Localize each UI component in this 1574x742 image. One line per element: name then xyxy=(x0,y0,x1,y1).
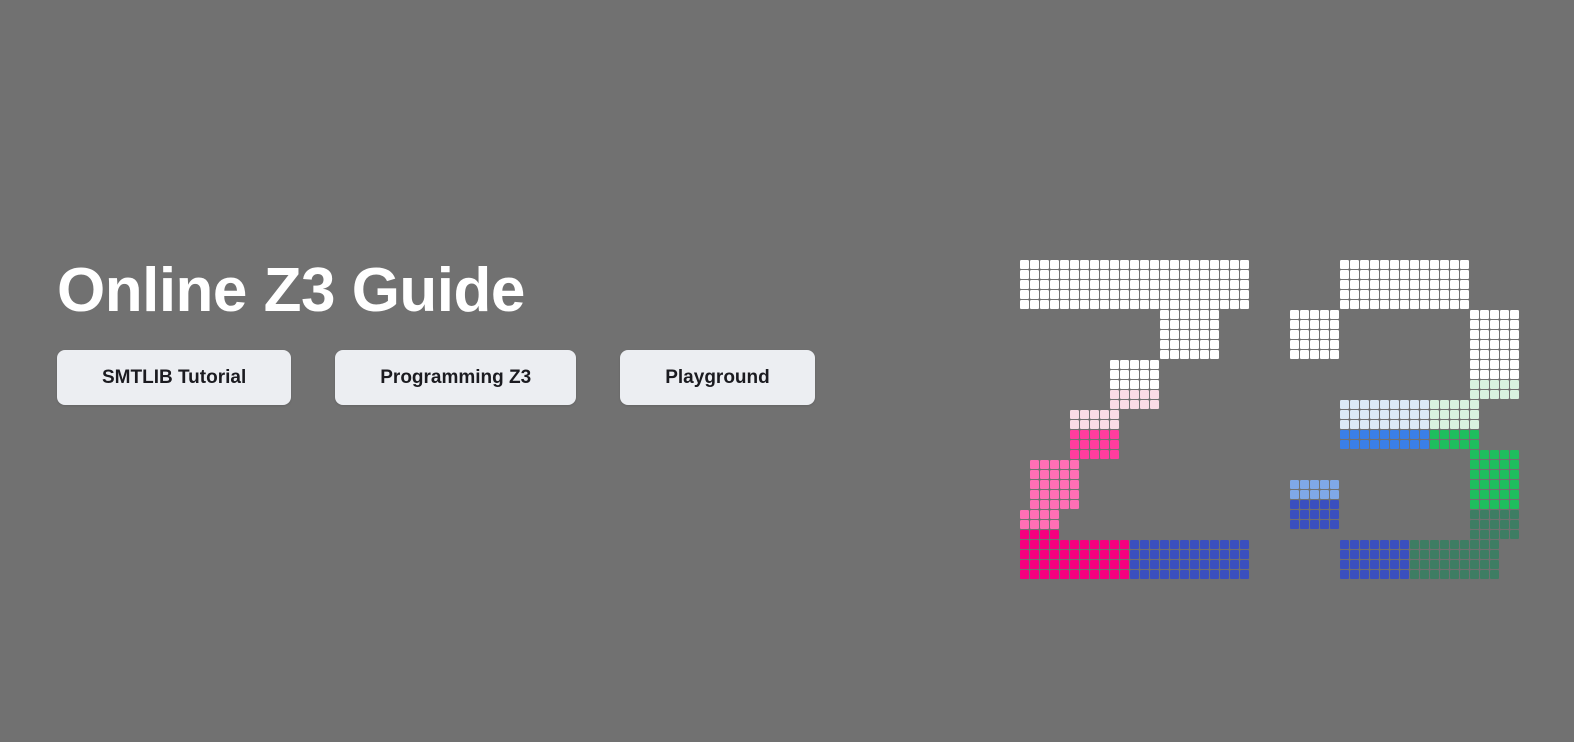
logo-pixel xyxy=(1360,290,1369,299)
logo-pixel xyxy=(1080,290,1089,299)
logo-pixel xyxy=(1410,290,1419,299)
logo-pixel xyxy=(1390,300,1399,309)
logo-pixel xyxy=(1340,260,1349,269)
logo-pixel xyxy=(1160,560,1169,569)
logo-pixel xyxy=(1240,550,1249,559)
logo-pixel xyxy=(1090,440,1099,449)
logo-pixel xyxy=(1110,440,1119,449)
logo-pixel xyxy=(1490,310,1499,319)
logo-pixel xyxy=(1120,570,1129,579)
logo-pixel xyxy=(1130,270,1139,279)
logo-pixel xyxy=(1040,280,1049,289)
logo-pixel xyxy=(1070,490,1079,499)
logo-pixel xyxy=(1340,410,1349,419)
logo-pixel xyxy=(1150,540,1159,549)
logo-pixel xyxy=(1210,350,1219,359)
logo-pixel xyxy=(1070,290,1079,299)
logo-pixel xyxy=(1350,560,1359,569)
logo-pixel xyxy=(1080,420,1089,429)
logo-pixel xyxy=(1040,510,1049,519)
logo-pixel xyxy=(1090,430,1099,439)
logo-pixel xyxy=(1300,330,1309,339)
logo-pixel xyxy=(1190,300,1199,309)
logo-pixel xyxy=(1470,530,1479,539)
logo-pixel xyxy=(1080,270,1089,279)
logo-pixel xyxy=(1310,310,1319,319)
logo-pixel xyxy=(1070,560,1079,569)
logo-pixel xyxy=(1220,280,1229,289)
logo-pixel xyxy=(1180,300,1189,309)
logo-pixel xyxy=(1410,260,1419,269)
logo-pixel xyxy=(1040,570,1049,579)
programming-z3-button[interactable]: Programming Z3 xyxy=(335,350,576,405)
logo-pixel xyxy=(1470,460,1479,469)
logo-pixel xyxy=(1040,540,1049,549)
logo-pixel xyxy=(1470,470,1479,479)
logo-pixel xyxy=(1320,350,1329,359)
logo-pixel xyxy=(1200,550,1209,559)
logo-pixel xyxy=(1170,300,1179,309)
logo-pixel xyxy=(1390,550,1399,559)
logo-pixel xyxy=(1440,550,1449,559)
logo-pixel xyxy=(1400,560,1409,569)
logo-pixel xyxy=(1050,280,1059,289)
logo-pixel xyxy=(1100,540,1109,549)
logo-pixel xyxy=(1320,310,1329,319)
logo-pixel xyxy=(1230,550,1239,559)
logo-pixel xyxy=(1080,540,1089,549)
logo-pixel xyxy=(1160,540,1169,549)
logo-pixel xyxy=(1430,550,1439,559)
logo-pixel xyxy=(1510,370,1519,379)
logo-pixel xyxy=(1220,570,1229,579)
logo-pixel xyxy=(1360,550,1369,559)
logo-pixel xyxy=(1470,320,1479,329)
logo-pixel xyxy=(1070,500,1079,509)
logo-pixel xyxy=(1440,290,1449,299)
logo-pixel xyxy=(1120,550,1129,559)
logo-pixel xyxy=(1170,540,1179,549)
logo-pixel xyxy=(1180,270,1189,279)
logo-pixel xyxy=(1220,540,1229,549)
logo-pixel xyxy=(1460,430,1469,439)
logo-pixel xyxy=(1470,450,1479,459)
logo-pixel xyxy=(1070,420,1079,429)
logo-pixel xyxy=(1220,300,1229,309)
logo-pixel xyxy=(1380,270,1389,279)
logo-pixel xyxy=(1480,570,1489,579)
logo-pixel xyxy=(1370,300,1379,309)
logo-pixel xyxy=(1490,460,1499,469)
logo-pixel xyxy=(1340,540,1349,549)
logo-pixel xyxy=(1060,280,1069,289)
logo-pixel xyxy=(1170,270,1179,279)
logo-pixel xyxy=(1090,410,1099,419)
logo-pixel xyxy=(1400,570,1409,579)
logo-pixel xyxy=(1420,400,1429,409)
logo-pixel xyxy=(1080,560,1089,569)
playground-button[interactable]: Playground xyxy=(620,350,815,405)
logo-pixel xyxy=(1340,290,1349,299)
logo-pixel xyxy=(1370,410,1379,419)
logo-pixel xyxy=(1470,310,1479,319)
logo-pixel xyxy=(1190,350,1199,359)
logo-pixel xyxy=(1190,560,1199,569)
logo-pixel xyxy=(1300,510,1309,519)
logo-pixel xyxy=(1310,510,1319,519)
logo-pixel xyxy=(1160,270,1169,279)
logo-pixel xyxy=(1320,510,1329,519)
logo-pixel xyxy=(1110,420,1119,429)
logo-pixel xyxy=(1300,340,1309,349)
logo-pixel xyxy=(1210,280,1219,289)
logo-pixel xyxy=(1090,260,1099,269)
logo-pixel xyxy=(1100,550,1109,559)
logo-pixel xyxy=(1300,490,1309,499)
logo-pixel xyxy=(1200,350,1209,359)
logo-pixel xyxy=(1020,300,1029,309)
logo-pixel xyxy=(1140,540,1149,549)
logo-pixel xyxy=(1070,540,1079,549)
logo-pixel xyxy=(1440,570,1449,579)
logo-pixel xyxy=(1240,270,1249,279)
logo-pixel xyxy=(1480,480,1489,489)
logo-pixel xyxy=(1080,550,1089,559)
logo-pixel xyxy=(1370,570,1379,579)
logo-pixel xyxy=(1170,550,1179,559)
logo-pixel xyxy=(1090,420,1099,429)
logo-pixel xyxy=(1020,510,1029,519)
logo-pixel xyxy=(1120,290,1129,299)
logo-pixel xyxy=(1220,560,1229,569)
logo-pixel xyxy=(1510,490,1519,499)
logo-pixel xyxy=(1440,430,1449,439)
logo-pixel xyxy=(1480,530,1489,539)
logo-pixel xyxy=(1500,530,1509,539)
logo-pixel xyxy=(1350,280,1359,289)
logo-pixel xyxy=(1200,270,1209,279)
logo-pixel xyxy=(1030,460,1039,469)
logo-pixel xyxy=(1460,540,1469,549)
logo-pixel xyxy=(1410,440,1419,449)
logo-pixel xyxy=(1430,280,1439,289)
logo-pixel xyxy=(1350,400,1359,409)
logo-pixel xyxy=(1210,270,1219,279)
logo-pixel xyxy=(1030,270,1039,279)
logo-pixel xyxy=(1440,540,1449,549)
logo-pixel xyxy=(1230,280,1239,289)
logo-pixel xyxy=(1210,550,1219,559)
logo-pixel xyxy=(1500,470,1509,479)
logo-pixel xyxy=(1200,280,1209,289)
logo-pixel xyxy=(1470,570,1479,579)
logo-pixel xyxy=(1180,310,1189,319)
logo-pixel xyxy=(1440,420,1449,429)
logo-pixel xyxy=(1120,280,1129,289)
logo-pixel xyxy=(1180,280,1189,289)
logo-pixel xyxy=(1410,570,1419,579)
logo-pixel xyxy=(1500,500,1509,509)
logo-pixel xyxy=(1110,450,1119,459)
logo-pixel xyxy=(1140,260,1149,269)
logo-pixel xyxy=(1320,490,1329,499)
logo-pixel xyxy=(1230,260,1239,269)
logo-pixel xyxy=(1040,480,1049,489)
logo-pixel xyxy=(1310,340,1319,349)
logo-pixel xyxy=(1380,540,1389,549)
logo-pixel xyxy=(1030,550,1039,559)
logo-pixel xyxy=(1220,550,1229,559)
logo-pixel xyxy=(1230,560,1239,569)
logo-pixel xyxy=(1150,270,1159,279)
logo-pixel xyxy=(1150,300,1159,309)
logo-pixel xyxy=(1140,390,1149,399)
logo-pixel xyxy=(1410,400,1419,409)
logo-pixel xyxy=(1330,480,1339,489)
logo-pixel xyxy=(1400,440,1409,449)
logo-pixel xyxy=(1040,270,1049,279)
logo-pixel xyxy=(1180,560,1189,569)
logo-pixel xyxy=(1290,520,1299,529)
logo-pixel xyxy=(1070,570,1079,579)
logo-pixel xyxy=(1180,540,1189,549)
logo-pixel xyxy=(1340,430,1349,439)
logo-pixel xyxy=(1160,350,1169,359)
logo-pixel xyxy=(1140,280,1149,289)
logo-pixel xyxy=(1370,280,1379,289)
logo-pixel xyxy=(1090,560,1099,569)
logo-pixel xyxy=(1430,540,1439,549)
logo-pixel xyxy=(1450,550,1459,559)
logo-pixel xyxy=(1330,330,1339,339)
logo-pixel xyxy=(1070,460,1079,469)
logo-pixel xyxy=(1090,550,1099,559)
logo-pixel xyxy=(1100,410,1109,419)
logo-pixel xyxy=(1210,310,1219,319)
logo-pixel xyxy=(1410,430,1419,439)
logo-pixel xyxy=(1380,410,1389,419)
logo-pixel xyxy=(1400,260,1409,269)
logo-pixel xyxy=(1390,410,1399,419)
logo-pixel xyxy=(1480,510,1489,519)
logo-pixel xyxy=(1510,470,1519,479)
logo-pixel xyxy=(1350,260,1359,269)
logo-pixel xyxy=(1300,310,1309,319)
logo-pixel xyxy=(1030,280,1039,289)
logo-pixel xyxy=(1340,440,1349,449)
logo-pixel xyxy=(1500,320,1509,329)
logo-pixel xyxy=(1120,390,1129,399)
logo-pixel xyxy=(1350,270,1359,279)
logo-pixel xyxy=(1020,260,1029,269)
logo-pixel xyxy=(1210,260,1219,269)
logo-pixel xyxy=(1400,290,1409,299)
logo-pixel xyxy=(1110,300,1119,309)
logo-pixel xyxy=(1440,560,1449,569)
logo-pixel xyxy=(1170,320,1179,329)
logo-pixel xyxy=(1150,290,1159,299)
logo-pixel xyxy=(1060,460,1069,469)
logo-pixel xyxy=(1500,310,1509,319)
logo-pixel xyxy=(1210,340,1219,349)
logo-pixel xyxy=(1240,540,1249,549)
logo-pixel xyxy=(1160,570,1169,579)
logo-pixel xyxy=(1230,290,1239,299)
logo-pixel xyxy=(1410,410,1419,419)
logo-pixel xyxy=(1310,520,1319,529)
logo-pixel xyxy=(1200,560,1209,569)
logo-pixel xyxy=(1490,370,1499,379)
logo-pixel xyxy=(1140,570,1149,579)
logo-pixel xyxy=(1370,420,1379,429)
logo-pixel xyxy=(1430,430,1439,439)
logo-pixel xyxy=(1110,560,1119,569)
logo-pixel xyxy=(1380,400,1389,409)
logo-pixel xyxy=(1070,480,1079,489)
logo-pixel xyxy=(1420,280,1429,289)
logo-pixel xyxy=(1500,370,1509,379)
logo-pixel xyxy=(1510,450,1519,459)
hero-section: Online Z3 Guide SMTLIB Tutorial Programm… xyxy=(57,258,957,405)
logo-pixel xyxy=(1350,570,1359,579)
logo-pixel xyxy=(1360,280,1369,289)
logo-pixel xyxy=(1360,300,1369,309)
logo-pixel xyxy=(1240,570,1249,579)
logo-pixel xyxy=(1490,540,1499,549)
logo-pixel xyxy=(1110,540,1119,549)
logo-pixel xyxy=(1220,290,1229,299)
logo-pixel xyxy=(1330,490,1339,499)
logo-pixel xyxy=(1430,420,1439,429)
logo-pixel xyxy=(1330,340,1339,349)
logo-pixel xyxy=(1060,260,1069,269)
logo-pixel xyxy=(1510,330,1519,339)
logo-pixel xyxy=(1050,500,1059,509)
logo-pixel xyxy=(1190,550,1199,559)
logo-pixel xyxy=(1110,570,1119,579)
logo-pixel xyxy=(1450,300,1459,309)
logo-pixel xyxy=(1130,570,1139,579)
logo-pixel xyxy=(1460,420,1469,429)
logo-pixel xyxy=(1190,320,1199,329)
logo-pixel xyxy=(1030,560,1039,569)
logo-pixel xyxy=(1120,400,1129,409)
logo-pixel xyxy=(1060,480,1069,489)
logo-pixel xyxy=(1380,260,1389,269)
logo-pixel xyxy=(1350,420,1359,429)
logo-pixel xyxy=(1440,270,1449,279)
logo-pixel xyxy=(1470,430,1479,439)
logo-pixel xyxy=(1400,300,1409,309)
logo-pixel xyxy=(1100,300,1109,309)
logo-pixel xyxy=(1470,480,1479,489)
logo-pixel xyxy=(1070,300,1079,309)
logo-pixel xyxy=(1470,560,1479,569)
logo-pixel xyxy=(1160,260,1169,269)
logo-pixel xyxy=(1040,500,1049,509)
logo-pixel xyxy=(1390,270,1399,279)
logo-pixel xyxy=(1470,390,1479,399)
logo-pixel xyxy=(1180,550,1189,559)
logo-pixel xyxy=(1360,570,1369,579)
logo-pixel xyxy=(1370,400,1379,409)
logo-pixel xyxy=(1150,370,1159,379)
logo-pixel xyxy=(1110,260,1119,269)
logo-pixel xyxy=(1130,300,1139,309)
logo-pixel xyxy=(1490,530,1499,539)
logo-pixel xyxy=(1390,570,1399,579)
logo-pixel xyxy=(1500,480,1509,489)
logo-pixel xyxy=(1400,420,1409,429)
logo-pixel xyxy=(1480,490,1489,499)
logo-pixel xyxy=(1450,270,1459,279)
logo-pixel xyxy=(1470,340,1479,349)
logo-pixel xyxy=(1120,270,1129,279)
logo-pixel xyxy=(1020,570,1029,579)
logo-pixel xyxy=(1070,410,1079,419)
logo-pixel xyxy=(1130,370,1139,379)
logo-pixel xyxy=(1160,300,1169,309)
logo-pixel xyxy=(1370,290,1379,299)
logo-pixel xyxy=(1370,260,1379,269)
logo-pixel xyxy=(1140,360,1149,369)
logo-pixel xyxy=(1330,520,1339,529)
logo-pixel xyxy=(1500,460,1509,469)
logo-pixel xyxy=(1440,260,1449,269)
logo-pixel xyxy=(1050,560,1059,569)
logo-pixel xyxy=(1460,270,1469,279)
logo-pixel xyxy=(1290,350,1299,359)
logo-pixel xyxy=(1470,520,1479,529)
logo-pixel xyxy=(1130,360,1139,369)
logo-pixel xyxy=(1150,560,1159,569)
smtlib-tutorial-button[interactable]: SMTLIB Tutorial xyxy=(57,350,291,405)
logo-pixel xyxy=(1170,560,1179,569)
logo-pixel xyxy=(1150,570,1159,579)
logo-pixel xyxy=(1360,440,1369,449)
logo-pixel xyxy=(1060,560,1069,569)
logo-pixel xyxy=(1180,570,1189,579)
logo-pixel xyxy=(1150,390,1159,399)
logo-pixel xyxy=(1410,270,1419,279)
logo-pixel xyxy=(1020,290,1029,299)
logo-pixel xyxy=(1390,260,1399,269)
logo-pixel xyxy=(1110,290,1119,299)
logo-pixel xyxy=(1310,480,1319,489)
logo-pixel xyxy=(1230,540,1239,549)
logo-pixel xyxy=(1360,560,1369,569)
logo-pixel xyxy=(1480,380,1489,389)
logo-pixel xyxy=(1340,570,1349,579)
logo-pixel xyxy=(1150,260,1159,269)
logo-pixel xyxy=(1300,350,1309,359)
logo-pixel xyxy=(1370,440,1379,449)
logo-pixel xyxy=(1440,280,1449,289)
logo-pixel xyxy=(1380,300,1389,309)
logo-pixel xyxy=(1050,510,1059,519)
logo-pixel xyxy=(1510,520,1519,529)
logo-pixel xyxy=(1410,420,1419,429)
logo-pixel xyxy=(1040,290,1049,299)
logo-pixel xyxy=(1180,330,1189,339)
logo-pixel xyxy=(1360,410,1369,419)
logo-pixel xyxy=(1190,270,1199,279)
logo-pixel xyxy=(1320,340,1329,349)
logo-pixel xyxy=(1450,430,1459,439)
logo-pixel xyxy=(1100,420,1109,429)
logo-pixel xyxy=(1030,540,1039,549)
logo-pixel xyxy=(1160,290,1169,299)
